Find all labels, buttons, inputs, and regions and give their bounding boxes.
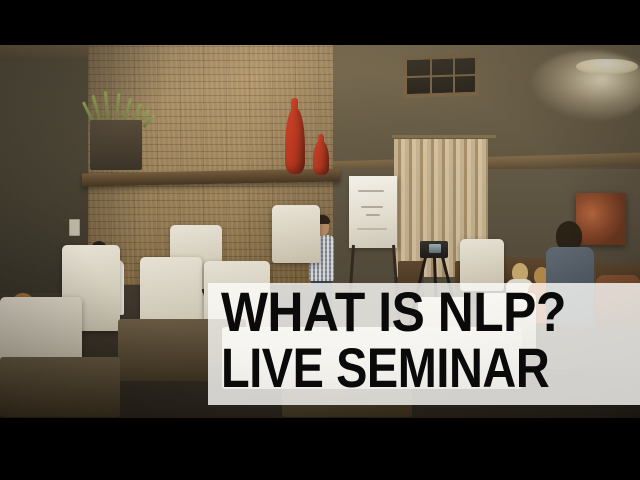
light-switch-plate — [69, 219, 80, 236]
left-wall-trim — [0, 45, 88, 61]
letterbox-bottom — [0, 418, 640, 480]
pendant-light-icon — [576, 59, 638, 74]
armchair-left-mid — [272, 205, 320, 263]
letterbox-top — [0, 0, 640, 45]
dark-planter — [90, 120, 142, 170]
red-vase-small — [313, 141, 329, 175]
camcorder-screen — [429, 244, 441, 253]
ottoman-left — [0, 357, 120, 417]
curtain-rod — [392, 135, 496, 138]
video-frame: WHAT IS NLP? LIVE SEMINAR — [0, 0, 640, 480]
floral-wall-art — [576, 193, 626, 245]
upper-window — [403, 54, 479, 99]
title-line-2: LIVE SEMINAR — [221, 341, 549, 397]
title-overlay-band: WHAT IS NLP? LIVE SEMINAR — [208, 283, 640, 405]
title-line-1: WHAT IS NLP? — [221, 285, 566, 341]
red-vase-large — [285, 108, 305, 174]
flipchart-pad — [349, 176, 397, 248]
